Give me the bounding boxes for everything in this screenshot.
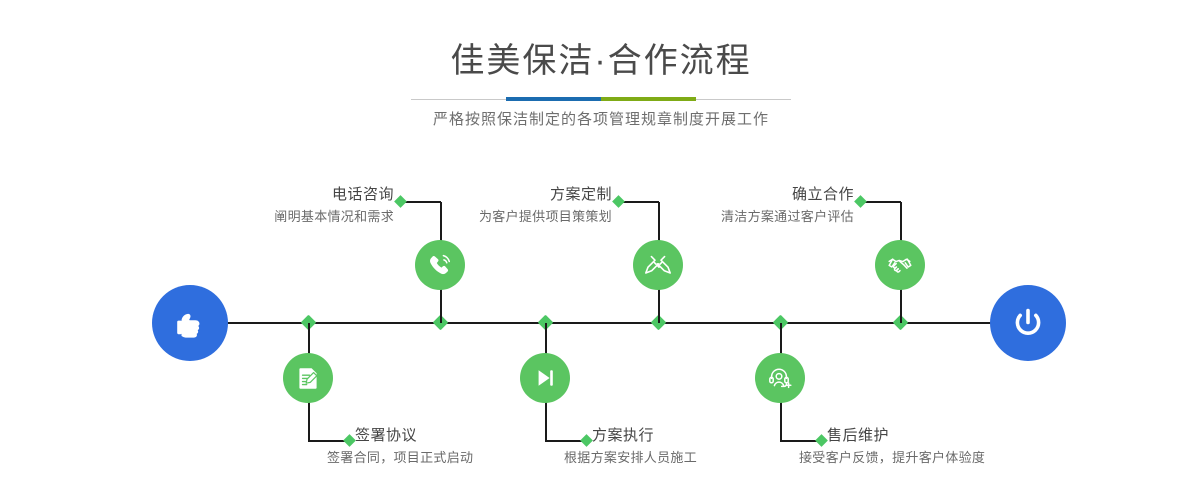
step-label-sign-agreement: 签署协议 签署合同，项目正式启动 [355,427,473,467]
step-desc-after-sales-service: 接受客户反馈，提升客户体验度 [799,449,985,467]
play-skip-icon [530,363,560,393]
step-label-plan-customization: 方案定制 为客户提供项目策策划 [404,186,612,226]
step-desc-sign-agreement: 签署合同，项目正式启动 [327,449,473,467]
step-label-after-sales-service: 售后维护 接受客户反馈，提升客户体验度 [827,427,985,467]
step-desc-plan-execution: 根据方案安排人员施工 [564,449,697,467]
power-icon [1007,302,1049,344]
step-icon-establish-cooperation[interactable] [875,240,925,290]
step-label-plan-execution: 方案执行 根据方案安排人员施工 [592,427,697,467]
step-label-establish-cooperation: 确立合作 清洁方案通过客户评估 [646,186,854,226]
step-title-plan-execution: 方案执行 [592,427,697,445]
headset-support-icon [765,363,795,393]
connector-tip-sign-agreement [343,434,356,447]
step-desc-establish-cooperation: 清洁方案通过客户评估 [646,208,854,226]
step-title-plan-customization: 方案定制 [404,186,612,204]
handshake-icon [885,250,915,280]
step-title-after-sales-service: 售后维护 [827,427,985,445]
divider-segment-green [601,97,696,101]
step-desc-plan-customization: 为客户提供项目策策划 [404,208,612,226]
connector-tip-establish-cooperation [854,195,867,208]
step-desc-phone-consultation: 阐明基本情况和需求 [186,208,394,226]
flow-diagram-canvas: 佳美保洁·合作流程 严格按照保洁制定的各项管理规章制度开展工作 [0,0,1202,502]
document-edit-icon [293,363,323,393]
step-title-sign-agreement: 签署协议 [355,427,473,445]
phone-call-icon [425,250,455,280]
title-divider [411,97,791,101]
step-label-phone-consultation: 电话咨询 阐明基本情况和需求 [186,186,394,226]
step-title-establish-cooperation: 确立合作 [646,186,854,204]
page-title: 佳美保洁·合作流程 [0,0,1202,78]
pencil-ruler-icon [643,250,673,280]
connector-tip-after-sales-service [815,434,828,447]
step-icon-sign-agreement[interactable] [283,353,333,403]
connector-tip-plan-execution [580,434,593,447]
timeline-end-endpoint [990,285,1066,361]
step-icon-plan-customization[interactable] [633,240,683,290]
pointing-hand-icon [170,303,210,343]
step-icon-phone-consultation[interactable] [415,240,465,290]
connector-tip-plan-customization [612,195,625,208]
page-subtitle: 严格按照保洁制定的各项管理规章制度开展工作 [0,108,1202,129]
timeline-start-endpoint [152,285,228,361]
step-title-phone-consultation: 电话咨询 [186,186,394,204]
header: 佳美保洁·合作流程 [0,0,1202,78]
divider-segment-blue [506,97,601,101]
step-icon-after-sales-service[interactable] [755,353,805,403]
step-icon-plan-execution[interactable] [520,353,570,403]
